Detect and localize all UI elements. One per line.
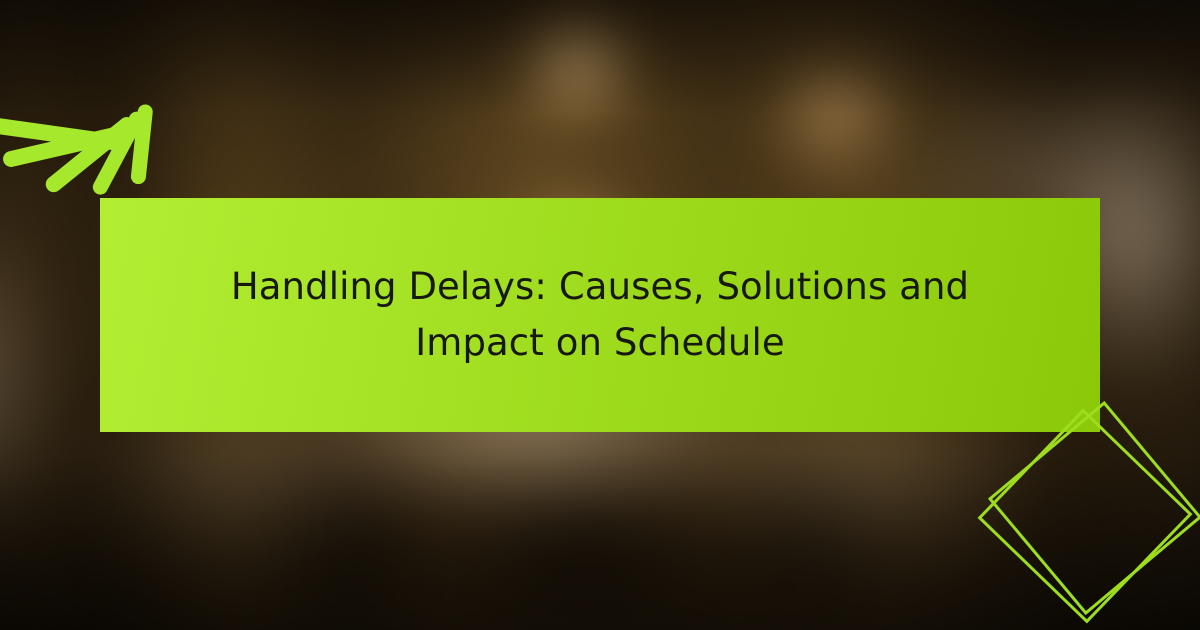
page-title: Handling Delays: Causes, Solutions and I… bbox=[210, 259, 990, 371]
overlapping-squares-decoration bbox=[985, 418, 1200, 630]
square-outline-front bbox=[988, 401, 1200, 615]
title-banner: Handling Delays: Causes, Solutions and I… bbox=[100, 198, 1100, 432]
social-share-card: Handling Delays: Causes, Solutions and I… bbox=[0, 0, 1200, 630]
starburst-sparkle-icon bbox=[0, 0, 230, 190]
